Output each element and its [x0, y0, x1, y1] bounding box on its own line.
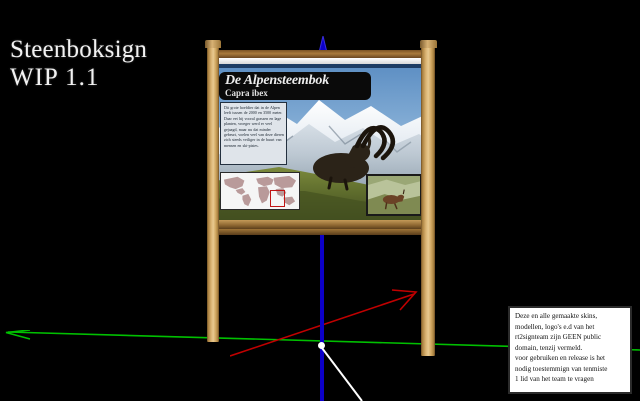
- board-top-rail: [211, 50, 425, 58]
- copyright-notice-line: domain, tenzij vermeld.: [515, 343, 626, 354]
- selection-line-white: [318, 344, 378, 401]
- board-bottom-rail-shadow: [207, 229, 429, 235]
- overlay-title: Steenboksign WIP 1.1: [10, 36, 147, 92]
- sign-board[interactable]: De Alpensteembok Capra ibex Dit grote ho…: [211, 50, 425, 235]
- inset-chamois-photo: [366, 174, 422, 216]
- sign-post-left-cap: [205, 40, 221, 48]
- copyright-notice-line: modellen, logo's e.d van het: [515, 322, 626, 333]
- sign-post-right-cap: [420, 40, 437, 48]
- sign-title-banner: De Alpensteembok Capra ibex: [219, 72, 371, 100]
- sign-subtitle: Capra ibex: [225, 88, 366, 99]
- overlay-title-line-2: WIP 1.1: [10, 64, 147, 92]
- copyright-notice-line: rt2signteam zijn GEEN public: [515, 332, 626, 343]
- board-bottom-rail: [209, 220, 427, 229]
- world-map-icon: [221, 173, 299, 209]
- copyright-notice-box: Deze en alle gemaakte skins,modellen, lo…: [508, 306, 632, 394]
- sign-post-right: [421, 44, 435, 356]
- origin-handle[interactable]: [318, 342, 325, 349]
- sign-description-panel: Dit grote hoefdier dat in de Alpen leeft…: [220, 102, 287, 165]
- map-region-highlight: [270, 190, 285, 207]
- viewport-3d[interactable]: De Alpensteembok Capra ibex Dit grote ho…: [0, 0, 640, 401]
- copyright-notice-line: Deze en alle gemaakte skins,: [515, 311, 626, 322]
- copyright-notice-text: Deze en alle gemaakte skins,modellen, lo…: [515, 311, 626, 385]
- copyright-notice-line: 1 lid van het team te vragen: [515, 374, 626, 385]
- sign-title: De Alpensteembok: [225, 73, 366, 88]
- sign-post-left: [207, 44, 219, 342]
- sign-description-text: Dit grote hoefdier dat in de Alpen leeft…: [224, 105, 284, 148]
- overlay-title-line-1: Steenboksign: [10, 36, 147, 64]
- copyright-notice-line: nodig toestemmign van tenmiste: [515, 364, 626, 375]
- sign-model[interactable]: De Alpensteembok Capra ibex Dit grote ho…: [203, 40, 439, 345]
- copyright-notice-line: voor gebruiken en release is het: [515, 353, 626, 364]
- world-map-panel: [220, 172, 300, 210]
